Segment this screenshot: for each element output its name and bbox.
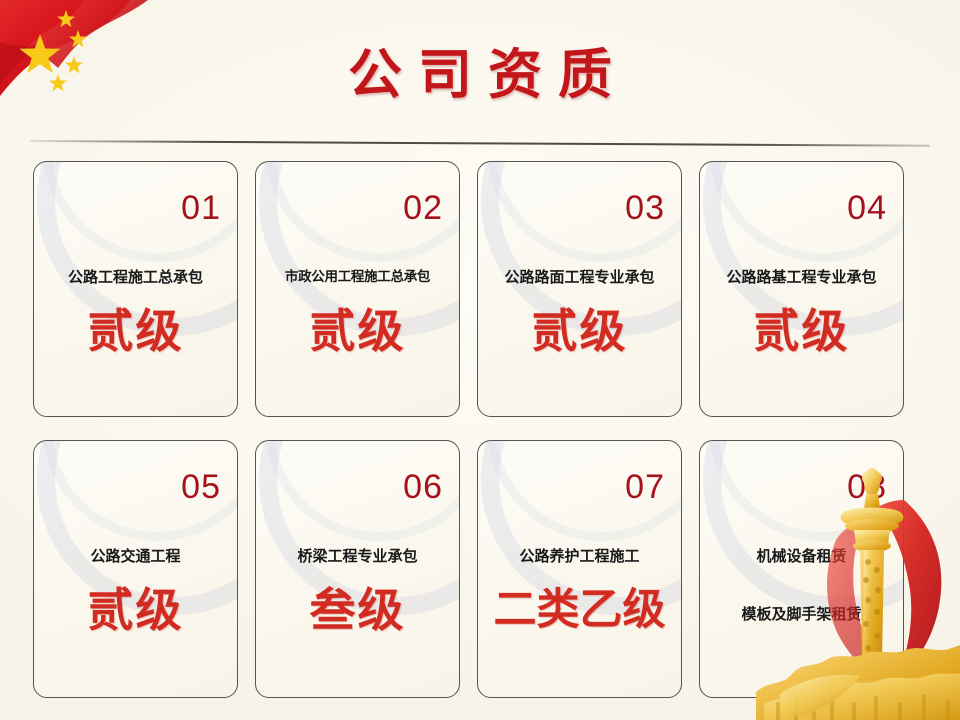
qualification-card[interactable]: 02 市政公用工程施工总承包 贰级 bbox=[255, 161, 460, 417]
card-body: 公路工程施工总承包 贰级 bbox=[34, 266, 237, 360]
qualification-card[interactable]: 05 公路交通工程 贰级 bbox=[33, 440, 238, 698]
card-number: 07 bbox=[625, 469, 665, 505]
card-body: 公路养护工程施工 二类乙级 bbox=[478, 545, 681, 639]
qualification-card[interactable]: 01 公路工程施工总承包 贰级 bbox=[33, 161, 238, 417]
card-level: 贰级 bbox=[40, 581, 231, 639]
card-level: 贰级 bbox=[706, 302, 897, 360]
card-number: 01 bbox=[181, 190, 221, 226]
card-body: 公路交通工程 贰级 bbox=[34, 545, 237, 639]
card-number: 02 bbox=[403, 190, 443, 226]
card-body: 桥梁工程专业承包 叁级 bbox=[256, 545, 459, 639]
card-level: 贰级 bbox=[484, 302, 675, 360]
card-level: 贰级 bbox=[40, 302, 231, 360]
card-title: 公路路基工程专业承包 bbox=[706, 266, 897, 288]
card-title: 公路路面工程专业承包 bbox=[484, 266, 675, 288]
card-level: 贰级 bbox=[262, 302, 453, 360]
qualification-card[interactable]: 03 公路路面工程专业承包 贰级 bbox=[477, 161, 682, 417]
card-number: 08 bbox=[847, 469, 887, 505]
card-subtitle: 模板及脚手架租赁 bbox=[706, 603, 897, 625]
card-level: 二类乙级 bbox=[484, 581, 675, 639]
divider bbox=[30, 140, 930, 147]
qualification-card[interactable]: 04 公路路基工程专业承包 贰级 bbox=[699, 161, 904, 417]
qualification-card[interactable]: 08 机械设备租赁 模板及脚手架租赁 bbox=[699, 440, 904, 698]
card-number: 03 bbox=[625, 190, 665, 226]
card-number: 05 bbox=[181, 469, 221, 505]
card-body: 公路路基工程专业承包 贰级 bbox=[700, 266, 903, 360]
card-level: 叁级 bbox=[262, 581, 453, 639]
card-body: 市政公用工程施工总承包 贰级 bbox=[256, 266, 459, 360]
slide-canvas: 公司资质 01 公路工程施工总承包 贰级 02 市政公用工程施工总承包 贰级 bbox=[0, 0, 960, 720]
card-title: 桥梁工程专业承包 bbox=[262, 545, 453, 567]
qualification-grid: 01 公路工程施工总承包 贰级 02 市政公用工程施工总承包 贰级 03 公路路… bbox=[33, 161, 927, 701]
qualification-card[interactable]: 06 桥梁工程专业承包 叁级 bbox=[255, 440, 460, 698]
card-title: 市政公用工程施工总承包 bbox=[262, 266, 453, 288]
card-number: 06 bbox=[403, 469, 443, 505]
card-title: 公路交通工程 bbox=[40, 545, 231, 567]
card-number: 04 bbox=[847, 190, 887, 226]
card-body: 公路路面工程专业承包 贰级 bbox=[478, 266, 681, 360]
card-body: 机械设备租赁 模板及脚手架租赁 bbox=[700, 545, 903, 625]
card-title: 公路养护工程施工 bbox=[484, 545, 675, 567]
qualification-card[interactable]: 07 公路养护工程施工 二类乙级 bbox=[477, 440, 682, 698]
card-title: 公路工程施工总承包 bbox=[40, 266, 231, 288]
card-title: 机械设备租赁 bbox=[706, 545, 897, 567]
page-title-wrapper: 公司资质 bbox=[0, 42, 960, 106]
page-title: 公司资质 bbox=[332, 42, 628, 106]
